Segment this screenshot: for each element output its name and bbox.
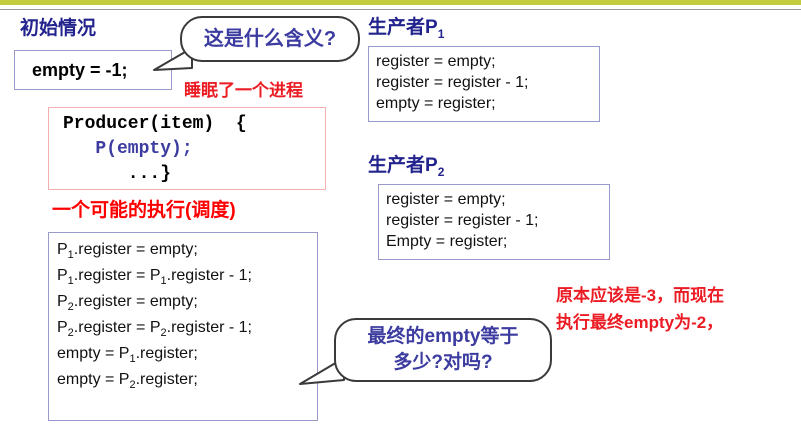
producer2-heading-subscript: 2 — [438, 165, 445, 179]
bubble-top-text: 这是什么含义? — [204, 26, 336, 52]
top-divider-rule — [0, 9, 801, 10]
note-sleep-process: 睡眠了一个进程 — [184, 78, 303, 103]
schedule-text-run: .register; — [136, 371, 198, 388]
schedule-line: P2.register = empty; — [57, 291, 198, 318]
bubble-what-does-this-mean: 这是什么含义? — [180, 16, 360, 62]
producer2-heading: 生产者P2 — [368, 155, 444, 183]
schedule-line: P1.register = P1.register - 1; — [57, 265, 252, 292]
schedule-box: P1.register = empty;P1.register = P1.reg… — [48, 232, 318, 421]
schedule-text-run: empty = P — [57, 345, 129, 362]
schedule-heading: 一个可能的执行(调度) — [52, 200, 236, 222]
producer2-code-box: register = empty; register = register - … — [378, 184, 610, 260]
producer2-line-1: register = empty; — [386, 189, 609, 210]
producer1-line-3: empty = register; — [376, 93, 599, 114]
initial-situation-heading: 初始情况 — [20, 18, 96, 40]
schedule-text-run: .register = P — [74, 319, 161, 336]
producer-code-line-3: ...} — [63, 162, 325, 187]
producer1-heading-text: 生产者P — [368, 17, 438, 38]
schedule-text-run: P — [57, 319, 68, 336]
producer-code-box: Producer(item) { P(empty); ...} — [48, 107, 326, 190]
producer2-line-3: Empty = register; — [386, 231, 609, 252]
schedule-line: empty = P1.register; — [57, 343, 198, 370]
producer2-heading-text: 生产者P — [368, 155, 438, 176]
schedule-text-run: P — [57, 241, 68, 258]
schedule-text-run: P — [57, 293, 68, 310]
producer1-heading-subscript: 1 — [438, 27, 445, 41]
producer2-line-2: register = register - 1; — [386, 210, 609, 231]
producer1-line-1: register = empty; — [376, 51, 599, 72]
schedule-text-run: .register = empty; — [74, 293, 198, 310]
schedule-line: P1.register = empty; — [57, 239, 198, 266]
slide-canvas: 初始情况 empty = -1; 这是什么含义? 睡眠了一个进程 Produce… — [0, 0, 801, 426]
schedule-text-run: P — [57, 267, 68, 284]
schedule-text-run: .register; — [136, 345, 198, 362]
schedule-text-run: .register = P — [74, 267, 161, 284]
schedule-text-run: .register - 1; — [167, 319, 252, 336]
producer-code-line-2: P(empty); — [63, 137, 325, 162]
bubble-bottom-line-2: 多少?对吗? — [393, 350, 492, 376]
schedule-line: empty = P2.register; — [57, 369, 198, 396]
schedule-text-run: .register - 1; — [167, 267, 252, 284]
note-result-line-2: 执行最终empty为-2， — [556, 310, 723, 335]
producer1-heading: 生产者P1 — [368, 17, 444, 45]
note-result-line-1: 原本应该是-3，而现在 — [556, 283, 724, 308]
top-accent-band — [0, 0, 801, 5]
schedule-text-run: empty = P — [57, 371, 129, 388]
initial-value-statement: empty = -1; — [32, 60, 128, 81]
producer1-line-2: register = register - 1; — [376, 72, 599, 93]
bubble-bottom-line-1: 最终的empty等于 — [368, 324, 519, 350]
initial-value-box: empty = -1; — [14, 50, 172, 90]
producer1-code-box: register = empty; register = register - … — [368, 46, 600, 122]
schedule-text-run: .register = empty; — [74, 241, 198, 258]
bubble-final-empty-question: 最终的empty等于 多少?对吗? — [334, 318, 552, 382]
producer-code-line-1: Producer(item) { — [63, 112, 325, 137]
schedule-line: P2.register = P2.register - 1; — [57, 317, 252, 344]
